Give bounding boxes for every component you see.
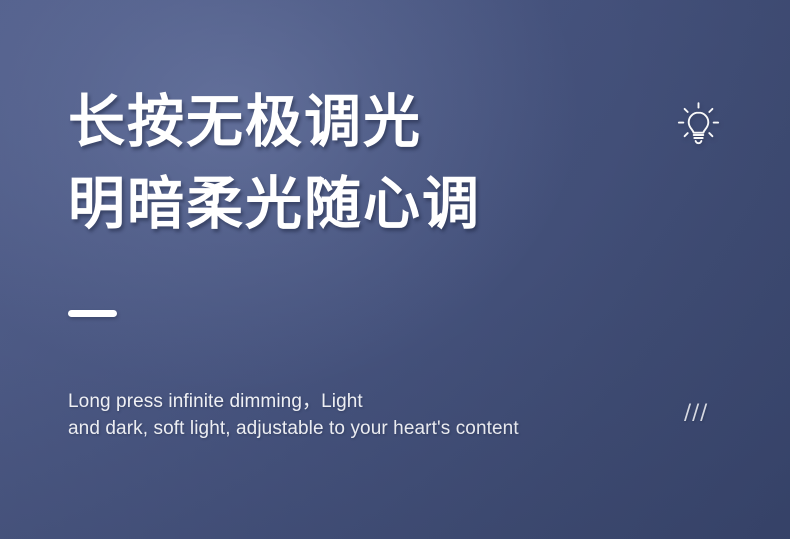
lightbulb-icon [674, 100, 723, 150]
background-vignette [0, 0, 790, 539]
decorative-slashes: /// [684, 400, 708, 424]
headline-line-1: 长按无极调光 [68, 94, 422, 151]
promo-banner: 长按无极调光 明暗柔光随心调 Long press infinite dimmi… [0, 0, 790, 539]
headline-line-2: 明暗柔光随心调 [68, 176, 481, 233]
subtitle-line-2: and dark, soft light, adjustable to your… [68, 415, 519, 442]
subtitle-text: Long press infinite dimming，Light and da… [68, 388, 519, 442]
headline-divider-bar [68, 310, 117, 317]
subtitle-line-1: Long press infinite dimming，Light [68, 388, 519, 415]
